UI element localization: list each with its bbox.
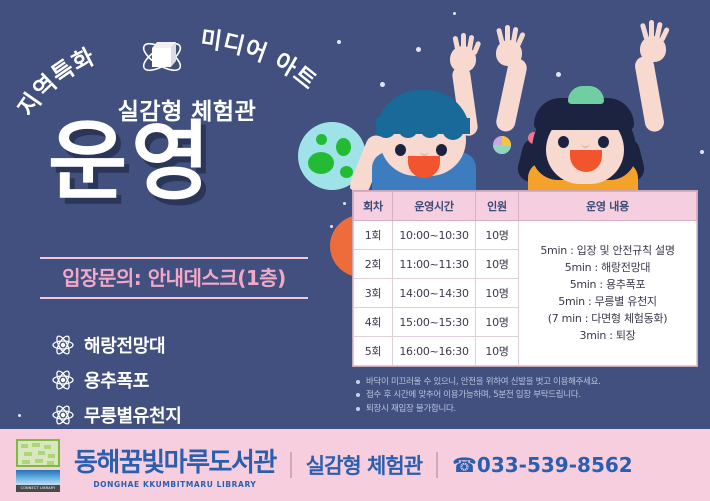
atom-icon bbox=[52, 369, 74, 391]
table-row: 1회 10:00~10:30 10명 5min : 입장 및 안전규칙 설명 5… bbox=[354, 221, 697, 250]
cell-session: 3회 bbox=[354, 279, 393, 308]
note-text: 접수 후 시간에 맞추어 이용가능하며, 5분전 입장 부탁드립니다. bbox=[366, 389, 581, 401]
col-header-session: 회차 bbox=[354, 192, 393, 221]
atom-icon bbox=[52, 404, 74, 426]
note-text: 바닥이 미끄러울 수 있으니, 안전을 위하여 신발을 벗고 이용해주세요. bbox=[366, 376, 601, 388]
list-item-label: 해랑전망대 bbox=[84, 332, 165, 358]
cell-time: 10:00~10:30 bbox=[393, 221, 476, 250]
note-item: 바닥이 미끄러울 수 있으니, 안전을 위하여 신발을 벗고 이용해주세요. bbox=[356, 376, 696, 388]
col-header-capacity: 인원 bbox=[476, 192, 519, 221]
footer-phone: ☎033-539-8562 bbox=[452, 453, 633, 477]
cell-capacity: 10명 bbox=[476, 279, 519, 308]
detail-line: (7 min : 다면형 체험동화) bbox=[521, 310, 694, 327]
cell-session: 4회 bbox=[354, 308, 393, 337]
footer-divider bbox=[290, 452, 292, 478]
star bbox=[416, 47, 421, 52]
table-header-row: 회차 운영시간 인원 운영 내용 bbox=[354, 192, 697, 221]
star bbox=[453, 12, 456, 15]
star bbox=[343, 202, 346, 205]
bullet-icon bbox=[356, 407, 360, 411]
list-item-label: 용추폭포 bbox=[84, 367, 149, 393]
entry-info: 입장문의: 안내데스크(1층) bbox=[40, 262, 308, 291]
cell-time: 15:00~15:30 bbox=[393, 308, 476, 337]
col-header-time: 운영시간 bbox=[393, 192, 476, 221]
list-item: 해랑전망대 bbox=[52, 332, 182, 358]
atom-cube-icon bbox=[139, 36, 185, 78]
logo-blue-block bbox=[16, 470, 60, 485]
arched-right-text: 미디어 아트 bbox=[199, 26, 322, 95]
atom-icon bbox=[52, 334, 74, 356]
cell-time: 11:00~11:30 bbox=[393, 250, 476, 279]
cell-capacity: 10명 bbox=[476, 337, 519, 366]
cell-time: 14:00~14:30 bbox=[393, 279, 476, 308]
schedule-table: 회차 운영시간 인원 운영 내용 1회 10:00~10:30 10명 5min… bbox=[352, 190, 698, 367]
star bbox=[18, 414, 21, 417]
attraction-list: 해랑전망대 용추폭포 무릉별유천지 bbox=[52, 332, 182, 437]
brand-name-kr: 동해꿈빛마루도서관 bbox=[74, 442, 276, 479]
bullet-icon bbox=[356, 380, 360, 384]
poster-root: 지역특화 미디어 아트 실감형 체험관 운영 입장문의: 안내데스크(1층) 해… bbox=[0, 0, 710, 501]
list-item: 용추폭포 bbox=[52, 367, 182, 393]
detail-line: 5min : 무릉별 유천지 bbox=[521, 293, 694, 310]
divider-bottom bbox=[40, 297, 308, 299]
cell-time: 16:00~16:30 bbox=[393, 337, 476, 366]
brand-block: 동해꿈빛마루도서관 DONGHAE KKUMBITMARU LIBRARY bbox=[74, 442, 276, 489]
cell-session: 1회 bbox=[354, 221, 393, 250]
note-item: 퇴장시 재입장 불가합니다. bbox=[356, 403, 696, 415]
bullet-icon bbox=[356, 393, 360, 397]
footer-bar: CONNECT LIBRARY 동해꿈빛마루도서관 DONGHAE KKUMBI… bbox=[0, 429, 710, 501]
library-logo: CONNECT LIBRARY bbox=[14, 439, 66, 491]
list-item-label: 무릉별유천지 bbox=[84, 402, 182, 428]
list-item: 무릉별유천지 bbox=[52, 402, 182, 428]
note-item: 접수 후 시간에 맞추어 이용가능하며, 5분전 입장 부탁드립니다. bbox=[356, 389, 696, 401]
cell-session: 5회 bbox=[354, 337, 393, 366]
detail-line: 5min : 해랑전망대 bbox=[521, 259, 694, 276]
logo-caption: CONNECT LIBRARY bbox=[16, 485, 60, 492]
arched-heading-text-right: 미디어 아트 bbox=[199, 26, 322, 95]
divider-top bbox=[40, 257, 308, 259]
cell-program-detail: 5min : 입장 및 안전규칙 설명 5min : 해랑전망대 5min : … bbox=[519, 221, 697, 366]
footer-hall-name: 실감형 체험관 bbox=[306, 450, 422, 480]
note-text: 퇴장시 재입장 불가합니다. bbox=[366, 403, 456, 415]
cell-session: 2회 bbox=[354, 250, 393, 279]
girl-character bbox=[512, 40, 710, 200]
col-header-content: 운영 내용 bbox=[519, 192, 697, 221]
detail-line: 5min : 입장 및 안전규칙 설명 bbox=[521, 242, 694, 259]
star bbox=[330, 225, 333, 228]
brand-name-en: DONGHAE KKUMBITMARU LIBRARY bbox=[74, 480, 276, 489]
detail-line: 3min : 퇴장 bbox=[521, 327, 694, 344]
cell-capacity: 10명 bbox=[476, 221, 519, 250]
logo-green-block bbox=[16, 439, 60, 467]
detail-line: 5min : 용추폭포 bbox=[521, 276, 694, 293]
cell-capacity: 10명 bbox=[476, 250, 519, 279]
page-title: 운영 bbox=[48, 122, 214, 204]
cell-capacity: 10명 bbox=[476, 308, 519, 337]
footer-divider bbox=[436, 452, 438, 478]
notes-list: 바닥이 미끄러울 수 있으니, 안전을 위하여 신발을 벗고 이용해주세요. 접… bbox=[356, 376, 696, 416]
